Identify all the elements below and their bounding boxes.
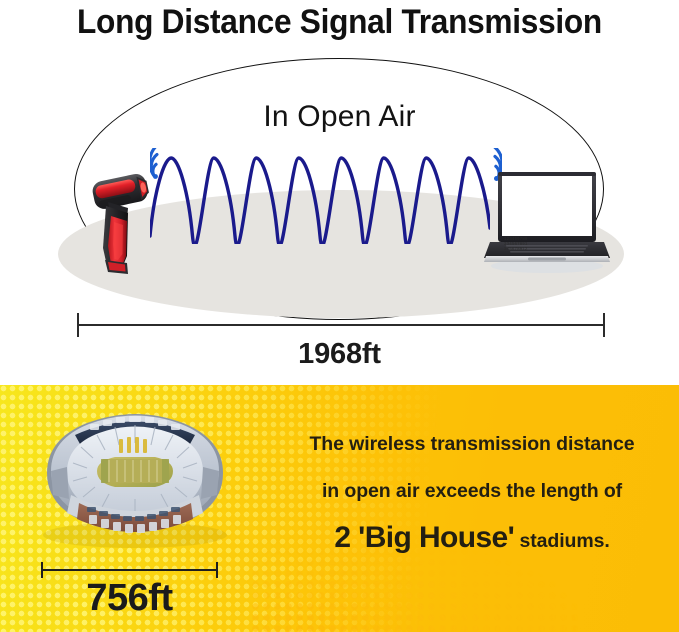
page-title: Long Distance Signal Transmission: [24, 0, 655, 44]
caption-line-3: 2 'Big House' stadiums.: [286, 527, 658, 552]
caption-line-1: The wireless transmission distance: [286, 433, 658, 455]
caption-tail: stadiums.: [514, 530, 609, 552]
infographic-root: Long Distance Signal Transmission In Ope…: [0, 0, 679, 632]
dimension-cap-right: [603, 313, 605, 337]
distance-value: 1968ft: [0, 338, 679, 371]
distance-dimension-line: [77, 313, 605, 337]
barcode-scanner-icon: [78, 156, 156, 278]
scene-label: In Open Air: [0, 100, 679, 134]
open-air-scene: In Open Air: [0, 44, 679, 344]
comparison-band: 756ft The wireless transmission distance…: [0, 385, 679, 632]
sine-wave-icon: [150, 152, 490, 244]
dimension-rule: [77, 324, 605, 326]
stadium-distance-value: 756ft: [41, 575, 218, 621]
comparison-caption: The wireless transmission distance in op…: [286, 433, 658, 552]
caption-emphasis: 2 'Big House': [334, 521, 514, 554]
stadium-icon: [27, 395, 242, 550]
dimension-rule: [41, 569, 218, 571]
laptop-screen-text: 123456789 234567891 345678912: [504, 238, 552, 254]
screen-line: 345678912: [504, 248, 552, 253]
caption-line-2: in open air exceeds the length of: [286, 480, 658, 502]
laptop-icon: [484, 170, 610, 274]
